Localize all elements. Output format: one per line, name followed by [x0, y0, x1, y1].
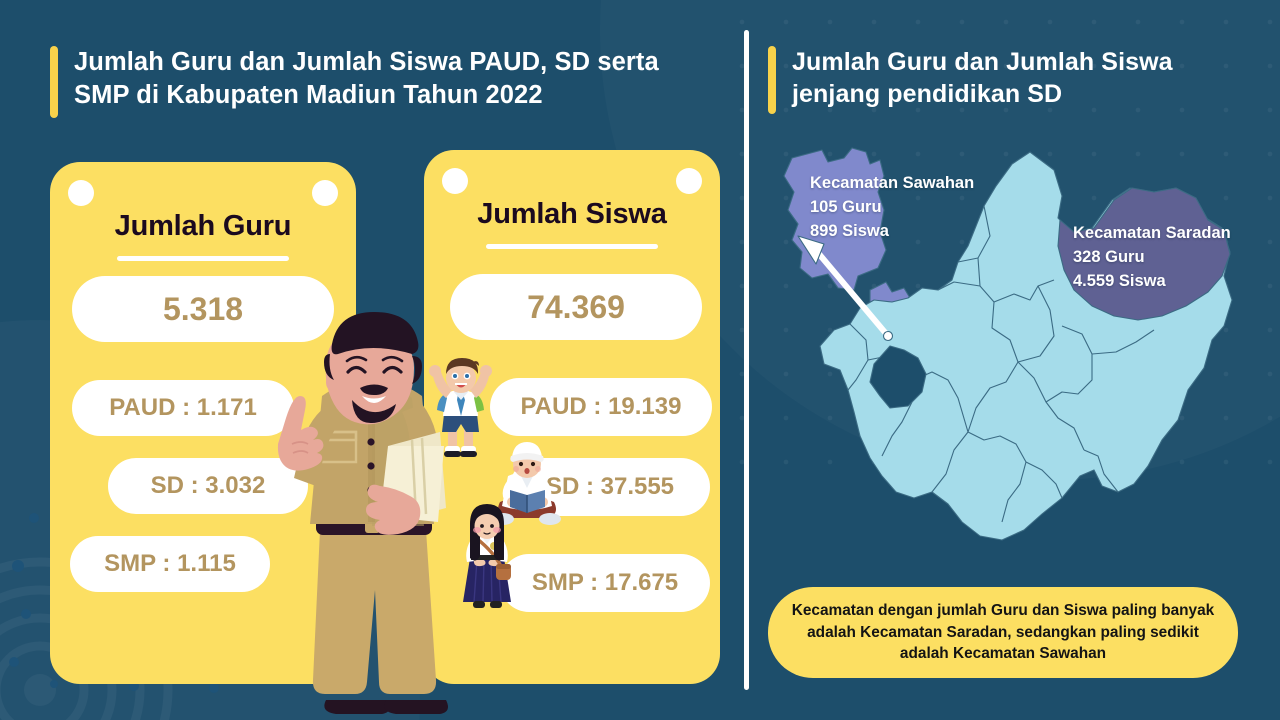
card-title-guru: Jumlah Guru — [50, 210, 356, 243]
guru-smp-value: SMP : 1.115 — [70, 536, 270, 592]
guru-paud-value: PAUD : 1.171 — [72, 380, 294, 436]
panel-divider — [744, 30, 749, 690]
card-title-underline — [486, 244, 658, 249]
map-label-saradan-teachers: 328 Guru — [1073, 246, 1231, 270]
guru-sd-value: SD : 3.032 — [108, 458, 308, 514]
siswa-smp-value: SMP : 17.675 — [500, 554, 710, 612]
card-punch-hole-right — [676, 168, 702, 194]
stat-card-guru: Jumlah Guru 5.318 PAUD : 1.171 SD : 3.03… — [50, 162, 356, 684]
title-accent-bar — [768, 46, 776, 114]
map-label-sawahan: Kecamatan Sawahan 105 Guru 899 Siswa — [810, 172, 974, 244]
map-label-sawahan-name: Kecamatan Sawahan — [810, 172, 974, 196]
summary-note-text: Kecamatan dengan jumlah Guru dan Siswa p… — [786, 600, 1220, 666]
right-panel-title: Jumlah Guru dan Jumlah Siswa jenjang pen… — [768, 46, 1238, 114]
summary-note-box: Kecamatan dengan jumlah Guru dan Siswa p… — [768, 587, 1238, 678]
guru-total-value: 5.318 — [72, 276, 334, 342]
right-title-text: Jumlah Guru dan Jumlah Siswa jenjang pen… — [792, 46, 1238, 110]
title-accent-bar — [50, 46, 58, 118]
map-label-sawahan-teachers: 105 Guru — [810, 196, 974, 220]
map-label-sawahan-students: 899 Siswa — [810, 220, 974, 244]
card-title-siswa: Jumlah Siswa — [424, 198, 720, 231]
siswa-total-value: 74.369 — [450, 274, 702, 340]
map-label-saradan-name: Kecamatan Saradan — [1073, 222, 1231, 246]
map-label-saradan-students: 4.559 Siswa — [1073, 270, 1231, 294]
left-title-text: Jumlah Guru dan Jumlah Siswa PAUD, SD se… — [74, 46, 710, 111]
left-panel-title: Jumlah Guru dan Jumlah Siswa PAUD, SD se… — [50, 46, 710, 118]
card-punch-hole-right — [312, 180, 338, 206]
siswa-sd-value: SD : 37.555 — [510, 458, 710, 516]
stat-card-siswa: Jumlah Siswa 74.369 PAUD : 19.139 SD : 3… — [424, 150, 720, 684]
map-label-saradan: Kecamatan Saradan 328 Guru 4.559 Siswa — [1073, 222, 1231, 294]
card-punch-hole-left — [442, 168, 468, 194]
siswa-paud-value: PAUD : 19.139 — [490, 378, 712, 436]
card-punch-hole-left — [68, 180, 94, 206]
infographic-canvas: Jumlah Guru dan Jumlah Siswa PAUD, SD se… — [0, 0, 1280, 720]
card-title-underline — [117, 256, 289, 261]
